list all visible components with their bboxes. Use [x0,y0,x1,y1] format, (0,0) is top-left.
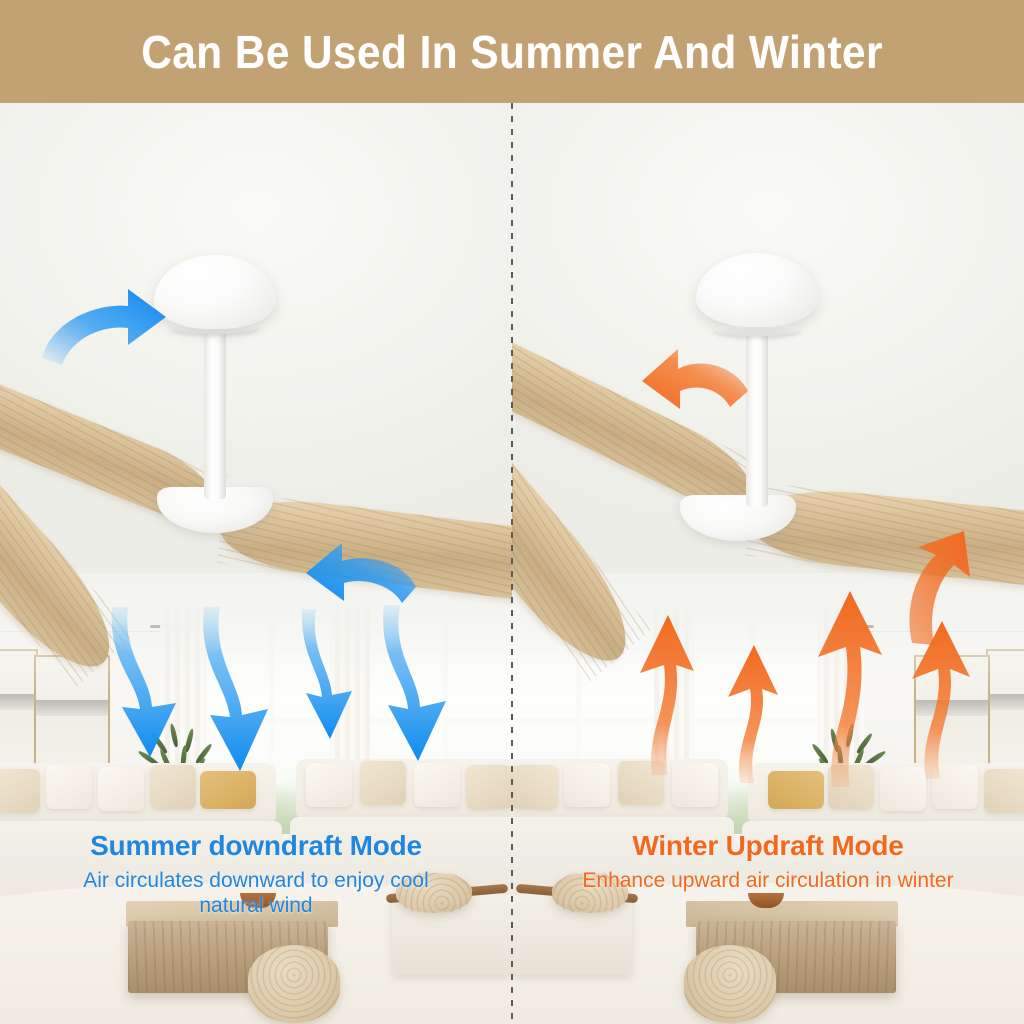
downdraft-arrow [203,607,268,771]
downdraft-arrow [302,609,352,739]
updraft-arrow [728,645,778,783]
winter-panel: Winter Updraft Mode Enhance upward air c… [512,103,1024,1024]
page-title: Can Be Used In Summer And Winter [141,25,883,79]
airflow-arrows-winter [512,103,1024,1024]
downdraft-arrow [383,605,446,761]
downward-airflow-arrow [306,543,416,603]
header-banner: Can Be Used In Summer And Winter [0,0,1024,103]
updraft-arrow [912,621,970,779]
downdraft-arrow [112,607,176,757]
updraft-arrow [818,591,882,787]
panel-divider [511,103,513,1024]
blade-rotation-arrow [642,349,748,409]
summer-panel: Summer downdraft Mode Air circulates dow… [0,103,512,1024]
airflow-arrows-summer [0,103,512,1024]
updraft-arrow [640,615,694,775]
blade-rotation-arrow [42,289,166,365]
